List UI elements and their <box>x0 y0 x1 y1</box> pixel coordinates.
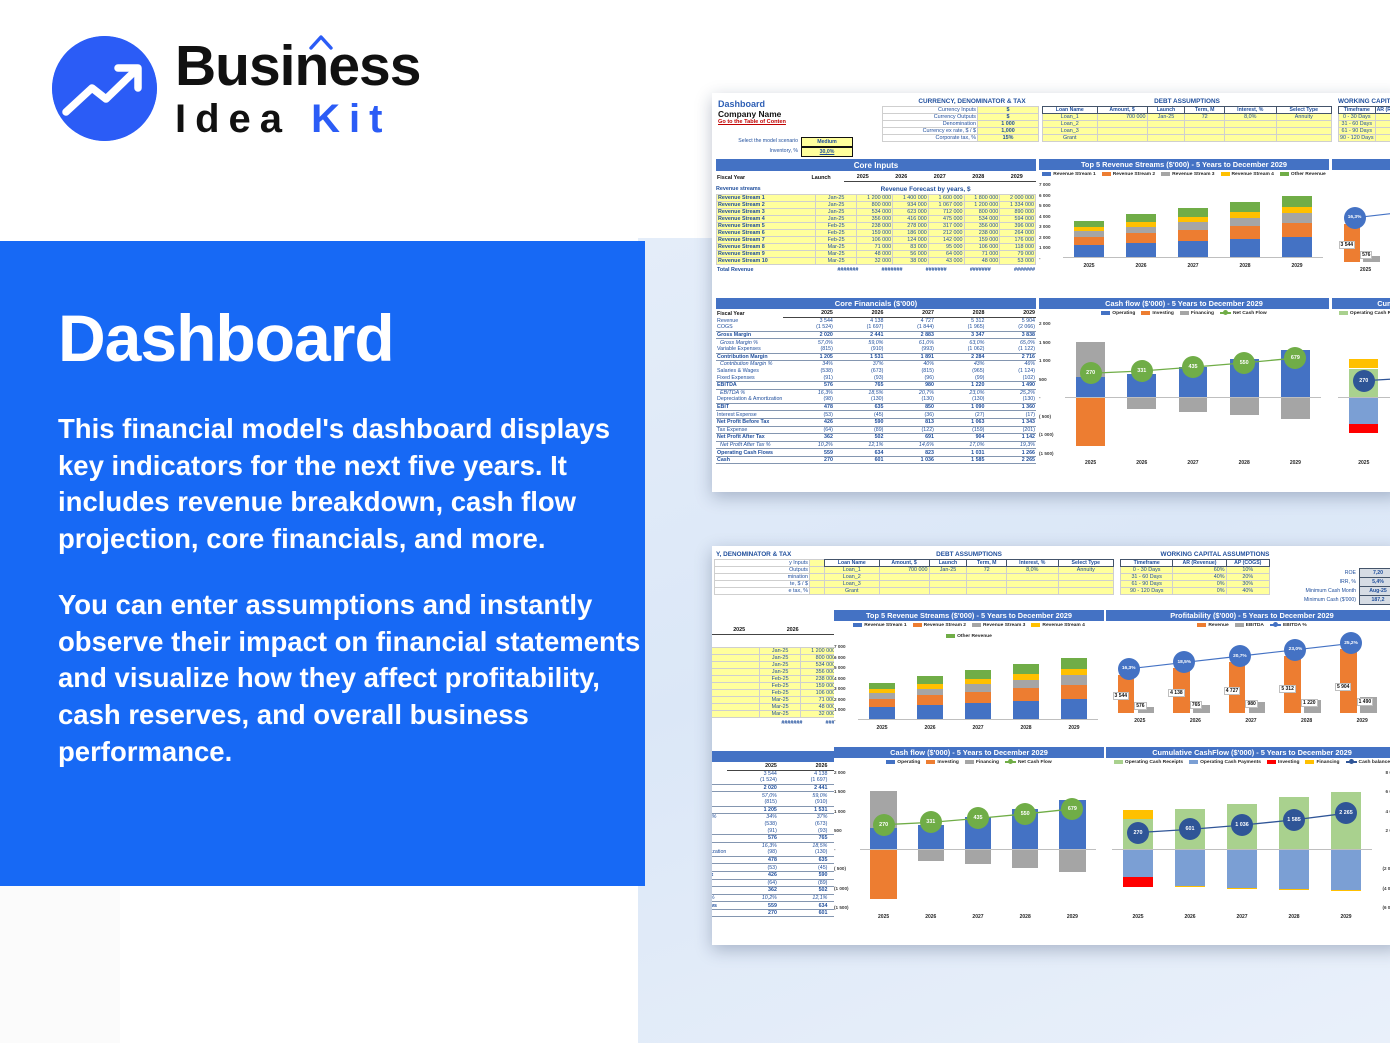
stacked-bar-segment <box>1178 208 1207 217</box>
stream-value[interactable]: 238 000 <box>857 223 893 230</box>
stream-launch[interactable]: Jan-25 <box>815 195 856 202</box>
table-cell[interactable]: Loan_2 <box>1043 121 1098 128</box>
stream-value[interactable]: 79 000 <box>1000 251 1036 258</box>
table-cell[interactable] <box>929 581 967 588</box>
total-cell: ####### <box>992 266 1036 274</box>
brand-line1-text: Business <box>175 34 420 98</box>
stream-value[interactable]: 534 000 <box>801 662 837 669</box>
revenue-streams-label: Revenue streams <box>716 186 815 193</box>
cf-row-value: 40% <box>884 361 935 368</box>
table-cell[interactable]: 31 - 60 Days <box>1339 121 1376 128</box>
legend-label: Financing <box>1191 311 1214 316</box>
table-cell[interactable]: 61 - 90 Days <box>1121 581 1173 588</box>
x-axis-label: 2026 <box>1168 718 1224 724</box>
stream-value[interactable]: 1 200 000 <box>801 648 837 655</box>
stream-launch[interactable]: Mar-25 <box>815 258 856 265</box>
stream-name[interactable]: Revenue Stream 9 <box>712 704 759 711</box>
debt-rows: Loan_1700 000Jan-25728,0%AnnuityLoan_2Lo… <box>1043 114 1332 142</box>
table-cell[interactable] <box>967 581 1007 588</box>
year-header: 2026 <box>766 626 820 635</box>
table-cell[interactable]: 700 000 <box>879 567 929 574</box>
table-cell[interactable] <box>1276 135 1331 142</box>
x-axis-label: 2028 <box>1268 914 1320 920</box>
stream-name[interactable]: Revenue Stream 6 <box>717 230 816 237</box>
stream-launch[interactable]: Feb-25 <box>815 230 856 237</box>
table-cell[interactable] <box>1225 121 1277 128</box>
cf-row-value: (27) <box>935 411 986 419</box>
cf-row-value: 2 020 <box>727 784 778 792</box>
cell-label: Denomination <box>883 121 978 128</box>
cf-row-label: Cash <box>712 909 727 917</box>
cf-row-label: EBITDA <box>712 834 727 842</box>
stream-value[interactable]: 1 600 000 <box>928 195 964 202</box>
table-cell[interactable]: Loan_2 <box>825 574 880 581</box>
stream-name[interactable]: Revenue Stream 10 <box>712 711 759 718</box>
cell-value[interactable]: $ <box>978 114 1039 121</box>
stream-value[interactable]: 159 000 <box>801 683 837 690</box>
stream-value[interactable]: 212 000 <box>928 230 964 237</box>
debt-header-row-bot: Loan NameAmount, $LaunchTerm, MInterest,… <box>825 560 1114 567</box>
table-cell[interactable]: Annuity <box>1276 114 1331 121</box>
stream-value[interactable]: 95 000 <box>928 244 964 251</box>
cell-label: e tax, % <box>715 588 810 595</box>
fiscal-year-label-top: Fiscal Year <box>717 175 745 181</box>
page-title: Dashboard <box>58 300 394 376</box>
cf-row-value: 426 <box>783 418 834 426</box>
table-cell[interactable]: 0 - 30 Days <box>1121 567 1173 574</box>
cf-row-value: (36) <box>884 411 935 419</box>
net-cash-flow-marker: 270 <box>873 814 895 836</box>
cf-row-value: (965) <box>935 368 986 375</box>
table-cell[interactable] <box>1276 128 1331 135</box>
stream-value[interactable]: 176 000 <box>1000 237 1036 244</box>
stream-value[interactable]: 159 000 <box>964 237 1000 244</box>
stacked-bar-segment <box>1013 688 1040 701</box>
cf-row-label: Depreciation & Amortization <box>712 849 727 856</box>
x-axis-label: 2027 <box>1223 718 1279 724</box>
stream-launch[interactable]: Jan-25 <box>815 209 856 216</box>
stream-value[interactable]: 48 000 <box>857 251 893 258</box>
stream-value[interactable]: 53 000 <box>1000 258 1036 265</box>
x-axis-label: 2026 <box>1115 263 1167 269</box>
table-cell[interactable]: 0% <box>1173 588 1226 595</box>
table-cell[interactable] <box>879 574 929 581</box>
stream-launch[interactable]: Mar-25 <box>815 244 856 251</box>
table-cell[interactable] <box>1185 135 1225 142</box>
chart-legend: RevenueEBITDAEBITDA % <box>1106 621 1390 629</box>
stream-value[interactable]: 48 000 <box>801 704 837 711</box>
table-row: Grant <box>1043 135 1332 142</box>
stream-launch[interactable]: Jan-25 <box>759 669 800 676</box>
legend-label: Revenue Stream 3 <box>1172 172 1214 177</box>
stream-value[interactable]: 238 000 <box>964 230 1000 237</box>
stream-value[interactable]: 934 000 <box>893 202 929 209</box>
revenue-row: Revenue Stream 4Jan-25356 000416 000475 … <box>717 216 1036 223</box>
kpi-row: Minimum Cash ($'000)187,2 <box>1277 596 1390 605</box>
stream-launch[interactable]: Jan-25 <box>759 655 800 662</box>
cf-row-value: (1 124) <box>985 368 1036 375</box>
x-axis-label: 2026 <box>1116 460 1167 466</box>
chart-top5-revenue-streams-bot: Top 5 Revenue Streams ($'000) - 5 Years … <box>834 610 1104 746</box>
cf-row-value: 12,1% <box>834 441 885 449</box>
stream-name[interactable]: Revenue Stream 3 <box>717 209 816 216</box>
cf-row-label: Net Profit After Tax % <box>716 441 783 449</box>
stream-launch[interactable]: Jan-25 <box>815 202 856 209</box>
stream-value[interactable]: 238 000 <box>801 676 837 683</box>
table-cell[interactable] <box>1007 581 1059 588</box>
chart-cash-flow-top: Cash flow ($'000) - 5 Years to December … <box>1039 298 1329 488</box>
table-cell[interactable]: 40% <box>1375 121 1390 128</box>
cf-row-value: 37% <box>778 814 829 821</box>
table-cell[interactable] <box>1007 574 1059 581</box>
cell-value[interactable]: $ <box>978 107 1039 114</box>
cell-label: Corporate tax, % <box>883 135 978 142</box>
legend-label: EBITDA % <box>1283 623 1307 628</box>
table-cell[interactable] <box>929 574 967 581</box>
cf-row-value: 5 312 <box>935 318 986 325</box>
stream-value[interactable]: 800 000 <box>801 655 837 662</box>
stream-value[interactable]: 264 000 <box>1000 230 1036 237</box>
debt-table: Loan NameAmount, $LaunchTerm, MInterest,… <box>1042 106 1332 142</box>
stacked-bar-segment <box>1126 214 1155 222</box>
stream-value[interactable]: 186 000 <box>893 230 929 237</box>
legend-label: Operating <box>1112 311 1135 316</box>
column-header: Term, M <box>967 560 1007 567</box>
cf-row-value: (89) <box>778 879 829 887</box>
stream-value[interactable]: 159 000 <box>857 230 893 237</box>
stream-launch[interactable]: Feb-25 <box>815 237 856 244</box>
cell-value[interactable]: 15% <box>978 135 1039 142</box>
stream-value[interactable]: 594 000 <box>1000 216 1036 223</box>
stream-name[interactable]: Revenue Stream 4 <box>712 669 759 676</box>
stream-launch[interactable]: Feb-25 <box>815 223 856 230</box>
stream-launch[interactable]: Jan-25 <box>759 648 800 655</box>
stream-value[interactable]: 356 000 <box>857 216 893 223</box>
cf-row-value: 4 138 <box>834 318 885 325</box>
table-cell[interactable]: Loan_1 <box>1043 114 1098 121</box>
column-header: AR (Revenue) <box>1375 107 1390 114</box>
chart-profitability-top: Profitability ($'000) - 5 Years to Decem… <box>1332 159 1390 295</box>
x-axis-label: 2025 <box>860 914 907 920</box>
cf-row: Depreciation & Amortization(98)(130)(130… <box>716 396 1036 403</box>
legend-label: Operating <box>897 760 920 765</box>
stream-value[interactable]: 1 400 000 <box>893 195 929 202</box>
stacked-bar-segment <box>1230 218 1259 226</box>
legend-swatch <box>913 623 922 627</box>
stream-name[interactable]: Revenue Stream 3 <box>712 662 759 669</box>
cf-row-value: 16,3% <box>727 842 778 849</box>
stream-launch[interactable]: Feb-25 <box>759 676 800 683</box>
legend-swatch <box>1235 623 1244 627</box>
stream-name[interactable]: Revenue Stream 1 <box>712 648 759 655</box>
stream-value[interactable]: 1 334 000 <box>1000 202 1036 209</box>
stacked-bar-segment <box>1061 658 1088 669</box>
table-cell[interactable]: 60% <box>1173 567 1226 574</box>
table-cell[interactable] <box>1058 581 1113 588</box>
stream-value[interactable]: 396 000 <box>1000 223 1036 230</box>
fiscal-year-label-cf: Fiscal Year <box>716 310 783 318</box>
stream-value[interactable]: 106 000 <box>857 237 893 244</box>
stream-launch[interactable]: Mar-25 <box>759 697 800 704</box>
table-cell[interactable]: Jan-25 <box>1147 114 1185 121</box>
stream-value[interactable]: 142 000 <box>928 237 964 244</box>
table-row: Loan_1700 000Jan-25728,0%Annuity <box>1043 114 1332 121</box>
legend-swatch <box>972 623 981 627</box>
cf-row: Cash2706011 0361 5852 265 <box>716 456 1036 464</box>
stream-value[interactable]: 890 000 <box>1000 209 1036 216</box>
stream-value[interactable]: 1 800 000 <box>964 195 1000 202</box>
table-cell[interactable]: 60% <box>1375 114 1390 121</box>
stream-value[interactable]: 2 000 000 <box>1000 195 1036 202</box>
stream-value[interactable]: 475 000 <box>928 216 964 223</box>
stream-value[interactable]: 1 200 000 <box>964 202 1000 209</box>
table-cell[interactable] <box>1097 135 1147 142</box>
stream-name[interactable]: Revenue Stream 7 <box>717 237 816 244</box>
cf-year-header: 2026 <box>834 310 885 317</box>
dashboard-screenshot-top: Dashboard Company Name Go to the Table o… <box>712 93 1390 492</box>
stream-value[interactable]: 71 000 <box>964 251 1000 258</box>
table-cell[interactable]: 10% <box>1226 567 1269 574</box>
stream-value[interactable]: 317 000 <box>928 223 964 230</box>
cf-row-value: 1 343 <box>985 418 1036 426</box>
table-cell[interactable] <box>929 588 967 595</box>
stream-name[interactable]: Revenue Stream 7 <box>712 690 759 697</box>
kpi-block: ROE7,20IRR, %5,4%Minimum Cash MonthAug-2… <box>1277 568 1390 605</box>
table-cell[interactable] <box>1007 588 1059 595</box>
stream-value[interactable]: 124 000 <box>893 237 929 244</box>
table-cell[interactable]: 61 - 90 Days <box>1339 128 1376 135</box>
stream-name[interactable]: Revenue Stream 5 <box>712 676 759 683</box>
debt-header-row: Loan NameAmount, $LaunchTerm, MInterest,… <box>1043 107 1332 114</box>
y-axis-tick: - <box>1039 256 1041 261</box>
table-cell[interactable] <box>1147 128 1185 135</box>
total-revenue-row: Total Revenue ##########################… <box>716 266 1036 274</box>
circumflex-icon <box>308 34 334 50</box>
total-revenue-label: Total Revenue <box>716 266 815 274</box>
cf-row-value: 590 <box>834 418 885 426</box>
chart-title: Profitability ($'000) - 5 Years to Decem… <box>1332 159 1390 170</box>
table-cell[interactable] <box>1225 135 1277 142</box>
table-cell[interactable] <box>967 588 1007 595</box>
stream-value[interactable]: 623 000 <box>893 209 929 216</box>
table-cell[interactable] <box>1097 121 1147 128</box>
cf-row-value: 590 <box>778 871 829 879</box>
stacked-bar-segment <box>1074 245 1103 258</box>
total-cell: ####### <box>859 266 903 274</box>
stream-value[interactable]: 64 000 <box>928 251 964 258</box>
table-cell[interactable]: Loan_3 <box>825 581 880 588</box>
table-cell[interactable] <box>1058 588 1113 595</box>
cf-row-value: 2 020 <box>783 331 834 339</box>
cf-row-value: (91) <box>727 827 778 834</box>
stream-name[interactable]: Revenue Stream 10 <box>717 258 816 265</box>
table-cell[interactable]: 90 - 120 Days <box>1339 135 1376 142</box>
stream-name[interactable]: Revenue Stream 6 <box>712 683 759 690</box>
stream-value[interactable]: 38 000 <box>893 258 929 265</box>
stream-launch[interactable]: Feb-25 <box>759 690 800 697</box>
core-financials-header: Core Financials ($'000) <box>716 298 1036 309</box>
table-cell[interactable]: 20% <box>1226 574 1269 581</box>
kpi-value: 7,20 <box>1360 569 1390 578</box>
table-cell[interactable]: 8,0% <box>1007 567 1059 574</box>
stream-value[interactable]: 106 000 <box>801 690 837 697</box>
stream-value[interactable]: 106 000 <box>964 244 1000 251</box>
table-cell[interactable] <box>1185 128 1225 135</box>
stream-name[interactable]: Revenue Stream 8 <box>712 697 759 704</box>
table-cell[interactable] <box>967 574 1007 581</box>
table-cell[interactable] <box>1097 128 1147 135</box>
stream-value[interactable]: 800 000 <box>964 209 1000 216</box>
x-axis-label: 2029 <box>1320 914 1372 920</box>
stream-value[interactable]: 416 000 <box>893 216 929 223</box>
table-cell[interactable]: Loan_3 <box>1043 128 1098 135</box>
column-header: Select Type <box>1276 107 1331 114</box>
stream-value[interactable]: 48 000 <box>964 258 1000 265</box>
stream-value[interactable]: 278 000 <box>893 223 929 230</box>
stream-name[interactable]: Revenue Stream 5 <box>717 223 816 230</box>
stream-value[interactable]: 356 000 <box>964 223 1000 230</box>
revenue-forecast-header: Revenue Forecast by years, $ <box>815 186 1036 193</box>
cf-row-label: Net Profit After Tax % <box>712 894 727 902</box>
brand-line2-dark: Idea <box>175 97 291 141</box>
stream-value[interactable]: 1 067 000 <box>928 202 964 209</box>
cf-row-value: (815) <box>727 799 778 806</box>
cf-row: EBITDA %16,3%18,5%20,7%23,0%25,2% <box>716 389 1036 396</box>
stream-launch[interactable]: Mar-25 <box>759 704 800 711</box>
stream-value[interactable]: 71 000 <box>857 244 893 251</box>
legend-label: Investing <box>1152 311 1173 316</box>
table-cell[interactable]: Annuity <box>1058 567 1113 574</box>
table-cell[interactable]: 40% <box>1173 574 1226 581</box>
table-cell[interactable]: Grant <box>1043 135 1098 142</box>
revenue-row: Revenue Stream 8Mar-2571 00083 00095 000… <box>717 244 1036 251</box>
legend-label: Other Revenue <box>957 634 992 639</box>
stream-value[interactable]: 32 000 <box>801 711 837 718</box>
cf-row-value: 576 <box>727 834 778 842</box>
stream-value[interactable]: 534 000 <box>964 216 1000 223</box>
legend-item: Investing <box>926 760 958 765</box>
table-cell[interactable]: 0% <box>1375 135 1390 142</box>
table-cell[interactable]: 31 - 60 Days <box>1121 574 1173 581</box>
cf-years-row: 20252026202720282029 <box>783 310 1036 317</box>
net-cash-flow-marker: 550 <box>1014 803 1036 825</box>
table-cell[interactable] <box>1058 574 1113 581</box>
stacked-bar-segment <box>917 705 944 720</box>
table-cell[interactable]: 0% <box>1173 581 1226 588</box>
table-cell[interactable]: 0 - 30 Days <box>1339 114 1376 121</box>
table-cell[interactable]: 72 <box>1185 114 1225 121</box>
stacked-bar-segment <box>1282 237 1311 258</box>
stream-launch[interactable]: Feb-25 <box>759 683 800 690</box>
stream-value[interactable]: 83 000 <box>893 244 929 251</box>
table-cell[interactable] <box>879 581 929 588</box>
table-cell[interactable]: 72 <box>967 567 1007 574</box>
table-cell[interactable]: Grant <box>825 588 880 595</box>
year-header: 2028 <box>959 173 998 182</box>
stream-name[interactable]: Revenue Stream 2 <box>717 202 816 209</box>
table-of-contents-link[interactable]: Go to the Table of Conten <box>718 119 786 125</box>
cf-row-label: COGS <box>712 777 727 784</box>
stacked-bar-segment <box>869 699 896 707</box>
table-cell[interactable] <box>879 588 929 595</box>
stream-name[interactable]: Revenue Stream 2 <box>712 655 759 662</box>
stream-value[interactable]: 71 000 <box>801 697 837 704</box>
legend-label: Revenue Stream 2 <box>924 623 966 628</box>
cell-value[interactable]: 1,000 <box>978 128 1039 135</box>
cf-row-value: 1 891 <box>884 353 935 361</box>
table-cell[interactable]: 40% <box>1226 588 1269 595</box>
cf-row-label: Revenue <box>712 771 727 778</box>
cf-row-value: 634 <box>778 902 829 910</box>
stream-launch[interactable]: Mar-25 <box>759 711 800 718</box>
cf-row-value: 2 716 <box>985 353 1036 361</box>
stream-value[interactable]: 1 200 000 <box>857 195 893 202</box>
table-cell[interactable]: 700 000 <box>1097 114 1147 121</box>
cf-row-label: Net Profit Before Tax <box>716 418 783 426</box>
cf-row-value: 1 360 <box>985 403 1036 411</box>
stream-name[interactable]: Revenue Stream 1 <box>717 195 816 202</box>
cf-row-value: 59,0% <box>778 792 829 799</box>
chart-cumulative-cashflow-top: Cumulative CashFlow ($'000) - 5 Years to… <box>1332 298 1390 488</box>
column-header: Interest, % <box>1225 107 1277 114</box>
table-cell[interactable]: Loan_1 <box>825 567 880 574</box>
cf-row-value: 3 544 <box>727 771 778 778</box>
table-cell[interactable] <box>1185 121 1225 128</box>
stream-name[interactable]: Revenue Stream 4 <box>717 216 816 223</box>
stream-value[interactable]: 800 000 <box>857 202 893 209</box>
stream-value[interactable]: 56 000 <box>893 251 929 258</box>
x-axis-label: 2026 <box>1164 914 1216 920</box>
legend-label: Revenue <box>1208 623 1228 628</box>
stream-value[interactable]: 32 000 <box>857 258 893 265</box>
cf-row-value: 12,1% <box>778 894 829 902</box>
table-cell[interactable]: 8,0% <box>1225 114 1277 121</box>
table-cell[interactable]: 90 - 120 Days <box>1121 588 1173 595</box>
cell-value[interactable]: 1 000 <box>978 121 1039 128</box>
cf-row-value: 426 <box>727 871 778 879</box>
stream-value[interactable]: 534 000 <box>857 209 893 216</box>
stream-value[interactable]: 118 000 <box>1000 244 1036 251</box>
stream-launch[interactable]: Mar-25 <box>815 251 856 258</box>
chart-legend: Operating Cash ReceiptsOperating Cash Pa… <box>1106 758 1390 766</box>
cf-row-value: 3 347 <box>935 331 986 339</box>
table-cell[interactable]: 0% <box>1375 128 1390 135</box>
cf-row-value: 3 838 <box>985 331 1036 339</box>
x-axis-label: 2028 <box>1219 460 1270 466</box>
stream-launch[interactable]: Jan-25 <box>759 662 800 669</box>
stream-value[interactable]: 712 000 <box>928 209 964 216</box>
table-cell[interactable]: Jan-25 <box>929 567 967 574</box>
cf-row-value: 25,2% <box>985 389 1036 396</box>
stream-name[interactable]: Revenue Stream 8 <box>717 244 816 251</box>
table-cell[interactable]: 30% <box>1226 581 1269 588</box>
debt-table-bot: Loan NameAmount, $LaunchTerm, MInterest,… <box>824 559 1114 595</box>
table-cell[interactable] <box>1147 121 1185 128</box>
stream-value[interactable]: 356 000 <box>801 669 837 676</box>
table-cell[interactable] <box>1225 128 1277 135</box>
cf-row-value: 270 <box>727 909 778 917</box>
table-cell[interactable] <box>1276 121 1331 128</box>
legend-item: Investing <box>1141 311 1173 316</box>
cf-row-value: 18,5% <box>778 842 829 849</box>
stream-launch[interactable]: Jan-25 <box>815 216 856 223</box>
stream-value[interactable]: 43 000 <box>928 258 964 265</box>
table-cell[interactable] <box>1147 135 1185 142</box>
stacked-bar-segment <box>965 703 992 720</box>
stream-name[interactable]: Revenue Stream 9 <box>717 251 816 258</box>
scenario-select[interactable]: Medium <box>801 137 853 147</box>
inventory-input[interactable]: 30,0% <box>801 147 853 157</box>
